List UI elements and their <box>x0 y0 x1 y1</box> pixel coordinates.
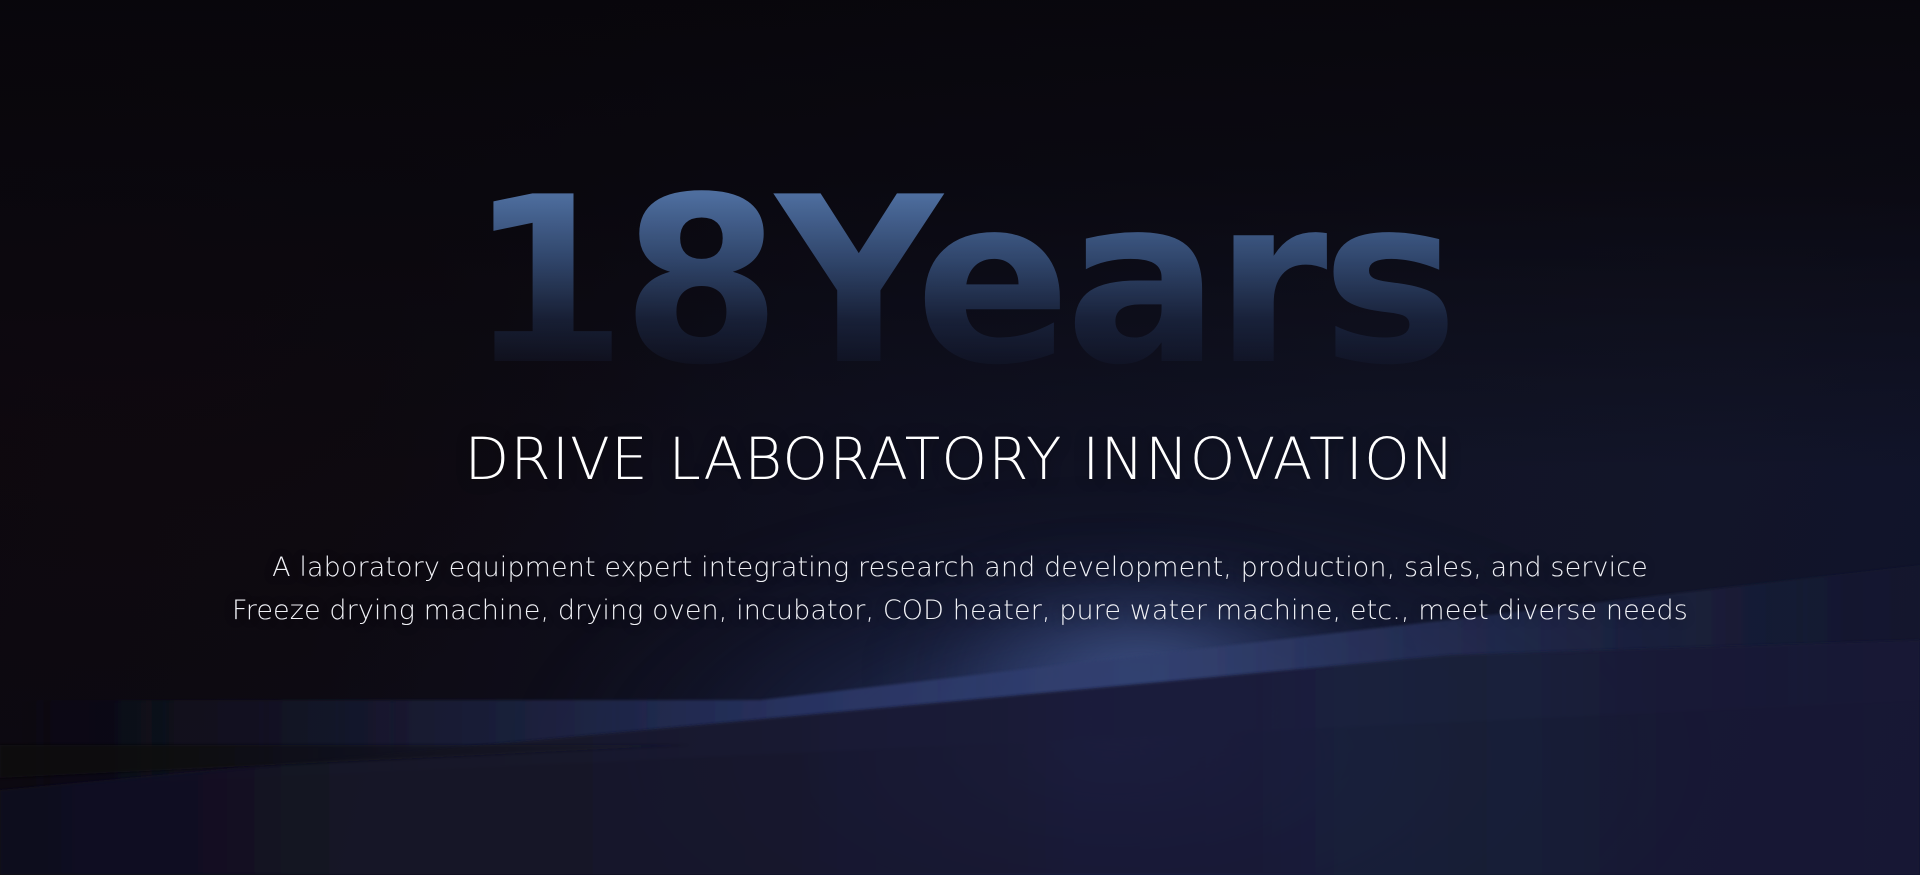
subtitle-line-2: Freeze drying machine, drying oven, incu… <box>0 589 1920 632</box>
hero-subtitle: A laboratory equipment expert integratin… <box>0 546 1920 632</box>
page-title: DRIVE LABORATORY INNOVATION <box>0 423 1920 495</box>
subtitle-line-1: A laboratory equipment expert integratin… <box>0 546 1920 589</box>
watermark-text: 18Years <box>467 149 1452 416</box>
watermark-18years: 18Years <box>0 168 1920 398</box>
hero-banner: 18Years DRIVE LABORATORY INNOVATION A la… <box>0 0 1920 875</box>
